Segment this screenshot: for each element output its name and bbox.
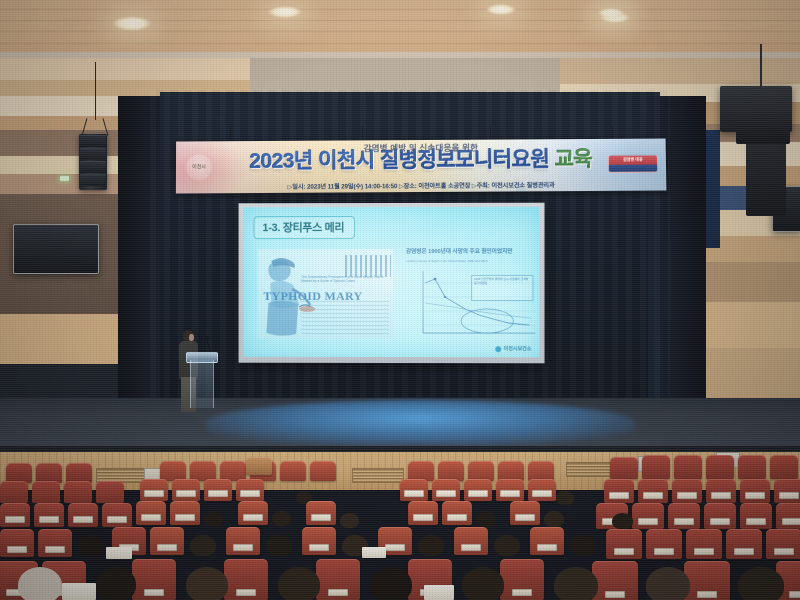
seat (498, 461, 524, 481)
seat (774, 479, 800, 503)
seat-number-plate (605, 591, 625, 598)
slide-annotation: 1918 인플루엔자 팬데믹 당시 사망률이 급격히 증가하였음 (471, 275, 533, 301)
seat (238, 501, 268, 525)
attendee-head (476, 511, 496, 527)
seat (172, 479, 200, 501)
attendee-head (340, 513, 359, 528)
seat (64, 481, 92, 503)
seat (6, 463, 32, 483)
handout-paper (62, 583, 96, 600)
seat (606, 529, 642, 559)
seat (236, 479, 264, 501)
seat (36, 463, 62, 483)
attendee-head (186, 567, 228, 600)
auditorium-photo: 이천시 감염병 예방 및 신속대응을 위한 2023년 이천시 질병정보모니터요… (0, 0, 800, 600)
seat (604, 479, 634, 503)
projection-screen: 1-3. 장티푸스 메리 TYPHOID MARY The Extraordin… (244, 207, 540, 358)
seat-number-plate (311, 514, 331, 521)
seat (226, 527, 260, 555)
typhoid-mary-clipping: TYPHOID MARY The Extraordinary Predicame… (257, 249, 393, 339)
seat (500, 559, 544, 600)
attendee-head (204, 511, 223, 526)
seat (400, 479, 428, 501)
clipping-crowd-graphic (345, 255, 391, 277)
exit-sign-icon (60, 176, 69, 181)
seat-number-plate (654, 548, 674, 555)
seat (646, 529, 682, 559)
seat (530, 527, 564, 555)
seat (672, 479, 702, 503)
attendee-head (18, 567, 62, 600)
seat (528, 461, 554, 481)
seat (776, 503, 800, 529)
seat-number-plate (789, 591, 800, 598)
seat-number-plate (208, 490, 228, 497)
seat-number-plate (614, 548, 634, 555)
seat-number-plate (779, 492, 799, 499)
seat-number-plate (243, 514, 263, 521)
left-monitor (13, 224, 99, 274)
seat-number-plate (782, 518, 800, 525)
seat-number-plate (236, 589, 256, 596)
attendee-head (544, 511, 564, 527)
banner-rope (362, 126, 363, 140)
seat (66, 463, 92, 483)
attendee-head (266, 535, 292, 556)
seat (408, 461, 434, 481)
seat (34, 503, 64, 527)
seat (438, 461, 464, 481)
right-speaker-icon (746, 134, 786, 216)
seat-number-plate (309, 544, 329, 551)
seat (592, 561, 638, 600)
seat-number-plate (176, 490, 196, 497)
seat-number-plate (413, 514, 433, 521)
seat (140, 479, 168, 501)
seat-number-plate (711, 492, 731, 499)
seat (468, 461, 494, 481)
seat-number-plate (447, 514, 467, 521)
banner-title: 2023년 이천시 질병정보모니터요원 교육 (176, 149, 666, 174)
clipping-subhead: The Extraordinary Predicament of a Cook … (301, 275, 387, 284)
seat-number-plate (404, 490, 424, 497)
slide-right-headline: 감염병은 1900년대 사망의 주요 원인이었지만 (406, 249, 539, 256)
seat (0, 481, 28, 503)
banner-rope (490, 126, 491, 140)
seat (632, 503, 664, 529)
ceiling-light-icon (486, 4, 516, 15)
seat (190, 461, 216, 481)
health-center-logo-mark (496, 346, 502, 352)
slide-right-subline: Leading causes of death in the United St… (406, 259, 539, 263)
attendee-head (462, 567, 504, 600)
health-center-logo: 이천시보건소 (496, 345, 532, 352)
seat (246, 457, 272, 475)
banner-title-part3: 교육 (549, 148, 592, 171)
projection-screen-frame: 1-3. 장티푸스 메리 TYPHOID MARY The Extraordin… (239, 203, 545, 364)
seat (32, 481, 60, 503)
attendee-head (96, 567, 136, 600)
presenter-face (189, 334, 194, 341)
seat (220, 461, 246, 481)
seat-number-plate (734, 548, 754, 555)
seat-number-plate (774, 548, 794, 555)
attendee-head (646, 567, 690, 600)
seat-number-plate (609, 492, 629, 499)
seat (280, 461, 306, 481)
seat (726, 529, 762, 559)
seat-number-plate (643, 492, 663, 499)
slide-title: 1-3. 장티푸스 메리 (253, 216, 355, 239)
handout-paper (362, 547, 386, 558)
seat (432, 479, 460, 501)
event-banner: 이천시 감염병 예방 및 신속대응을 위한 2023년 이천시 질병정보모니터요… (176, 139, 667, 194)
seat-number-plate (436, 490, 456, 497)
attendee-head (78, 535, 104, 556)
seat-number-plate (674, 518, 694, 525)
clipping-body-text (301, 301, 389, 335)
seat (68, 503, 98, 527)
seat-number-plate (745, 492, 765, 499)
seat-number-plate (328, 589, 348, 596)
attendee-head (738, 567, 784, 600)
seat (706, 455, 734, 479)
seat (528, 479, 556, 501)
seat (638, 479, 668, 503)
seat-number-plate (515, 514, 535, 521)
handout-paper (106, 547, 132, 559)
attendee-head (190, 535, 216, 556)
banner-title-part1: 2023년 이천시 (249, 149, 380, 173)
seat (310, 461, 336, 481)
seat-number-plate (144, 490, 164, 497)
projector-mount (760, 44, 762, 88)
seat (150, 527, 184, 555)
seat (704, 503, 736, 529)
seat (766, 529, 800, 559)
seat (510, 501, 540, 525)
seat (306, 501, 336, 525)
seat-number-plate (532, 490, 552, 497)
seat (740, 503, 772, 529)
handout-paper (424, 585, 454, 600)
audience-seating (0, 455, 800, 600)
speaker-cable (95, 62, 96, 120)
seat (132, 559, 176, 600)
attendee-head (370, 567, 412, 600)
seat-number-plate (141, 514, 161, 521)
attendee-head (570, 535, 596, 556)
seat (706, 479, 736, 503)
ceiling-light-icon (598, 8, 624, 18)
seat-number-plate (710, 518, 730, 525)
seat (686, 529, 722, 559)
seat (464, 479, 492, 501)
podium (186, 352, 216, 410)
seat (38, 529, 72, 557)
attendee-head (272, 511, 291, 526)
seat (496, 479, 524, 501)
seat (684, 561, 730, 600)
ceiling-light-icon (268, 6, 302, 18)
seat (302, 527, 336, 555)
seat-number-plate (240, 490, 260, 497)
seat (96, 481, 124, 503)
seat (408, 501, 438, 525)
seat-number-plate (697, 591, 717, 598)
seat-number-plate (175, 514, 195, 521)
seat-number-plate (233, 544, 253, 551)
seat (102, 503, 132, 527)
seat (740, 479, 770, 503)
seat (204, 479, 232, 501)
seat (136, 501, 166, 525)
seat-number-plate (45, 546, 65, 553)
seat (442, 501, 472, 525)
seat-number-plate (694, 548, 714, 555)
seat (642, 455, 670, 479)
seat (770, 455, 798, 479)
seat (160, 461, 186, 481)
attendee-head (418, 535, 444, 556)
seat-number-plate (746, 518, 766, 525)
seat (0, 529, 34, 557)
banner-rope (230, 126, 231, 140)
seat-number-plate (107, 516, 127, 523)
seat (610, 457, 638, 479)
seat (224, 559, 268, 600)
seat (668, 503, 700, 529)
seat-number-plate (468, 490, 488, 497)
attendee-head (554, 567, 598, 600)
seat (170, 501, 200, 525)
health-center-logo-text: 이천시보건소 (504, 345, 532, 352)
seat-number-plate (512, 589, 532, 596)
attendee-head (612, 513, 633, 529)
stage-light-pool (205, 400, 635, 446)
seat (316, 559, 360, 600)
seat-number-plate (39, 516, 59, 523)
seat (454, 527, 488, 555)
left-speaker-icon (79, 134, 107, 190)
seat-number-plate (500, 490, 520, 497)
attendee-head (494, 535, 520, 556)
attendee-head (278, 567, 320, 600)
seat-number-plate (638, 518, 658, 525)
seat-number-plate (537, 544, 557, 551)
seat (738, 455, 766, 479)
right-speaker-lower-icon (736, 108, 790, 144)
seat (674, 455, 702, 479)
seat-number-plate (5, 516, 25, 523)
banner-title-part2: 질병정보모니터요원 (380, 148, 550, 172)
seat-number-plate (73, 516, 93, 523)
ceiling-light-icon (112, 16, 152, 31)
podium-body (190, 360, 214, 408)
attendee-head (556, 491, 574, 505)
seat (0, 503, 30, 527)
seat-number-plate (385, 544, 405, 551)
seat-number-plate (461, 544, 481, 551)
seat-number-plate (7, 546, 27, 553)
campaign-logo: 감염병 대응 (608, 155, 658, 173)
seat-number-plate (144, 589, 164, 596)
seat-number-plate (157, 544, 177, 551)
seat-number-plate (677, 492, 697, 499)
